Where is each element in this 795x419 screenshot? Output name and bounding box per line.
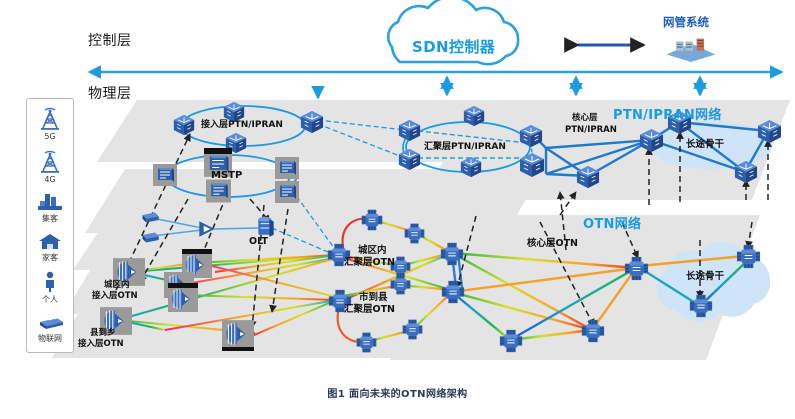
otn-agg-city-label-line2: 汇聚层OTN bbox=[344, 305, 395, 316]
legend-label-4g: 4G bbox=[44, 175, 55, 184]
ptn-core-label-line2: PTN/IPRAN bbox=[565, 126, 617, 136]
legend-label-home: 家客 bbox=[42, 252, 58, 263]
figure-caption: 图1 面向未来的OTN网络架构 bbox=[0, 385, 795, 400]
mstp-ring-label: MSTP bbox=[211, 170, 242, 182]
otn-backbone-label: 长途骨干 bbox=[686, 272, 724, 283]
otn-county-access-label-line1: 县到乡 bbox=[90, 329, 116, 339]
nms-label[interactable]: 网管系统 bbox=[663, 14, 709, 30]
nms-server-icon bbox=[667, 39, 716, 62]
ptn-agg-ring-label: 汇聚层PTN/IPRAN bbox=[424, 142, 506, 152]
access-type-legend: 5G 4G 集客 bbox=[26, 98, 74, 353]
ptn-backbone-label: 长途骨干 bbox=[686, 140, 724, 151]
legend-item-personal[interactable]: 个人 bbox=[27, 271, 73, 305]
control-layer-label: 控制层 bbox=[88, 30, 132, 50]
legend-label-personal: 个人 bbox=[42, 294, 58, 305]
person-icon bbox=[40, 271, 60, 293]
otn-urban-access-label-line2: 接入层OTN bbox=[92, 292, 138, 302]
5g-tower-icon bbox=[37, 107, 63, 131]
otn-network-title: OTN网络 bbox=[583, 213, 641, 232]
home-icon bbox=[36, 233, 64, 251]
otn-core-label: 核心层OTN bbox=[527, 239, 578, 250]
legend-item-home[interactable]: 家客 bbox=[27, 233, 73, 263]
olt-label: OLT bbox=[249, 237, 268, 248]
ptn-network-title: PTN/IPRAN网络 bbox=[613, 104, 722, 123]
legend-item-iot[interactable]: 物联网 bbox=[27, 314, 73, 344]
diagram-canvas: 控制层 物理层 SDN控制器 网管系统 PTN/IPRAN网络 接入层PTN/I… bbox=[0, 0, 795, 419]
otn-agg-city-label-line1: 市到县 bbox=[359, 293, 388, 304]
legend-label-enterprise: 集客 bbox=[42, 213, 58, 224]
legend-label-5g: 5G bbox=[44, 132, 55, 141]
otn-core-nodes bbox=[500, 257, 648, 352]
ptn-core-label-line1: 核心层 bbox=[572, 114, 598, 124]
legend-item-4g[interactable]: 4G bbox=[27, 150, 73, 184]
iot-gateway-icon bbox=[35, 314, 65, 332]
sdn-controller-label[interactable]: SDN控制器 bbox=[412, 36, 495, 57]
otn-county-access-label-line2: 接入层OTN bbox=[78, 340, 124, 350]
node-icons-layer bbox=[0, 0, 795, 419]
otn-urban-access-label-line1: 城区内 bbox=[104, 281, 130, 291]
4g-tower-icon bbox=[37, 150, 63, 174]
legend-label-iot: 物联网 bbox=[38, 333, 62, 344]
otn-agg-urban-label-line1: 城区内 bbox=[358, 246, 387, 257]
legend-item-5g[interactable]: 5G bbox=[27, 107, 73, 141]
physical-layer-label: 物理层 bbox=[88, 83, 132, 103]
legend-item-enterprise[interactable]: 集客 bbox=[27, 192, 73, 224]
otn-agg-urban-label-line2: 汇聚层OTN bbox=[344, 258, 395, 269]
ptn-access-ring-label: 接入层PTN/IPRAN bbox=[201, 120, 283, 130]
enterprise-building-icon bbox=[36, 192, 64, 212]
